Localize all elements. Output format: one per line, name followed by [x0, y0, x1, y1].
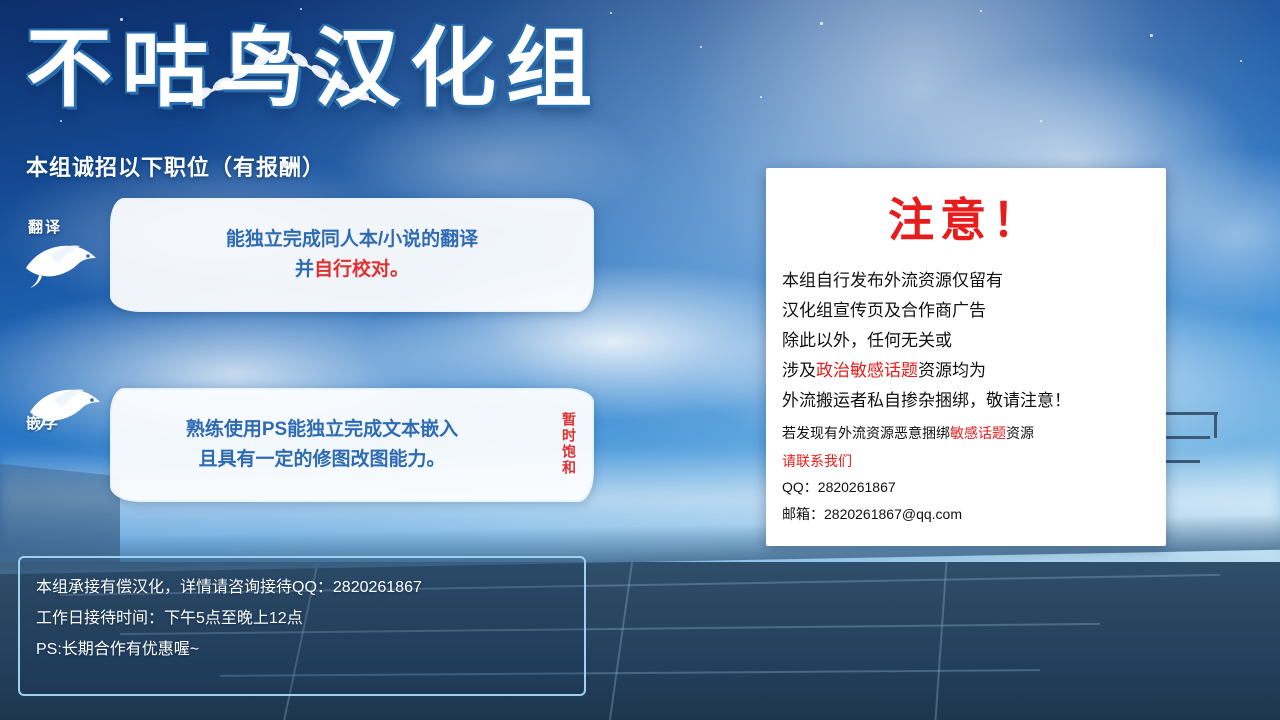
- notice-line: 汉化组宣传页及合作商广告: [782, 296, 1166, 326]
- role-status-note: 暂时饱和: [560, 412, 578, 482]
- role-line-2-prefix: 并: [295, 259, 314, 280]
- role-banner-text-typesetter: 熟练使用PS能独立完成文本嵌入 且具有一定的修图改图能力。: [112, 415, 592, 475]
- notice-line: 本组自行发布外流资源仅留有: [782, 266, 1166, 296]
- notice-title: 注意！: [766, 184, 1166, 250]
- laurel-wreath-icon: [176, 32, 386, 118]
- notice-line: 外流搬运者私自掺杂捆绑，敬请注意！: [782, 386, 1166, 416]
- notice-panel: 注意！ 本组自行发布外流资源仅留有 汉化组宣传页及合作商广告 除此以外，任何无关…: [766, 168, 1166, 546]
- footer-line-1: 本组承接有偿汉化，详情请咨询接待QQ：2820261867: [36, 572, 584, 603]
- notice-line: 除此以外，任何无关或: [782, 326, 1166, 356]
- notice-small-red: 敏感话题: [950, 425, 1006, 441]
- notice-qq: QQ：2820261867: [782, 476, 1166, 499]
- notice-line: 涉及政治敏感话题资源均为: [782, 356, 1166, 386]
- dove-icon: [24, 378, 104, 434]
- notice-contact-us: 请联系我们: [782, 450, 1166, 472]
- notice-body: 本组自行发布外流资源仅留有 汉化组宣传页及合作商广告 除此以外，任何无关或 涉及…: [782, 266, 1166, 416]
- role-block-typesetter: 嵌字 熟练使用PS能独立完成文本嵌入 且具有一定的修图改图能力。 暂时饱和: [0, 368, 640, 508]
- role-line-1: 能独立完成同人本/小说的翻译: [226, 229, 478, 250]
- role-block-translator: 翻译 能独立完成同人本/小说的翻译 并自行校对。: [0, 190, 640, 320]
- dove-icon: [20, 234, 100, 290]
- role-banner-text-translator: 能独立完成同人本/小说的翻译 并自行校对。: [112, 225, 592, 285]
- footer-info-box: 本组承接有偿汉化，详情请咨询接待QQ：2820261867 工作日接待时间：下午…: [18, 556, 586, 696]
- notice-email: 邮箱：2820261867@qq.com: [782, 503, 1166, 526]
- role-line-2-mid: 修图改图: [312, 449, 388, 470]
- notice-small-note: 若发现有外流资源恶意捆绑敏感话题资源: [782, 422, 1166, 444]
- role-line-1: 熟练使用PS能独立完成文本嵌入: [186, 419, 458, 440]
- role-banner-typesetter: 熟练使用PS能独立完成文本嵌入 且具有一定的修图改图能力。 暂时饱和: [110, 388, 594, 502]
- role-line-2-prefix: 且具有一定的: [198, 449, 312, 470]
- recruit-subtitle: 本组诚招以下职位（有报酬）: [26, 150, 325, 182]
- footer-line-2: 工作日接待时间：下午5点至晚上12点: [36, 603, 584, 634]
- page-title: 不咕鸟汉化组: [26, 14, 746, 124]
- role-banner-translator: 能独立完成同人本/小说的翻译 并自行校对。: [110, 198, 594, 312]
- role-line-2-red: 自行校对。: [314, 259, 409, 280]
- notice-sensitive-topic: 政治敏感话题: [816, 361, 918, 380]
- group-title-block: 不咕鸟汉化组: [26, 14, 746, 134]
- role-line-2-suffix: 能力。: [389, 449, 446, 470]
- footer-line-3: PS:长期合作有优惠喔~: [36, 634, 584, 665]
